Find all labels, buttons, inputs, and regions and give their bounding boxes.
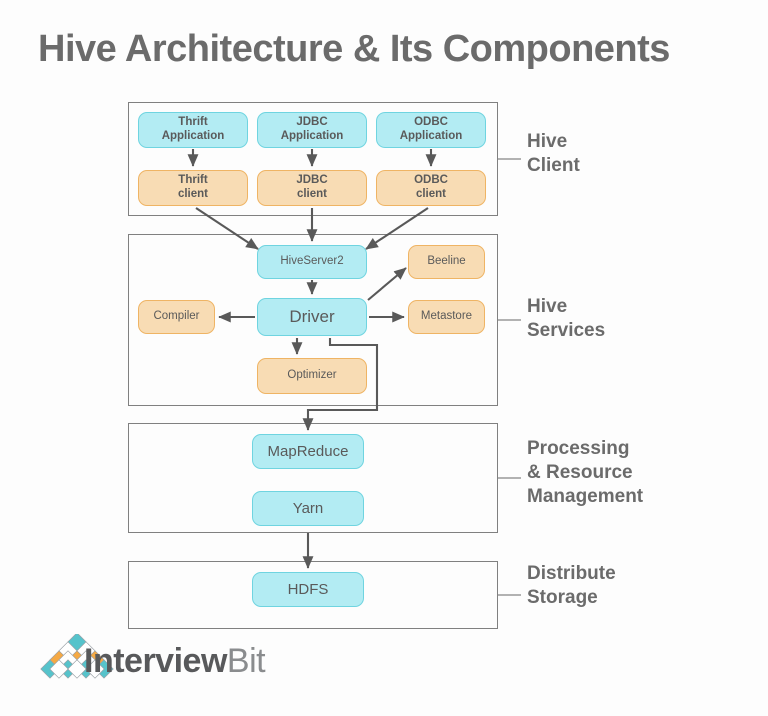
page-title: Hive Architecture & Its Components [38, 28, 670, 71]
section-label-processing: Processing & Resource Management [527, 437, 643, 508]
node-jdbc-client[interactable]: JDBC client [257, 170, 367, 206]
node-hiveserver2[interactable]: HiveServer2 [257, 245, 367, 279]
node-driver[interactable]: Driver [257, 298, 367, 336]
node-yarn[interactable]: Yarn [252, 491, 364, 526]
node-thrift-client[interactable]: Thrift client [138, 170, 248, 206]
node-thrift-application[interactable]: Thrift Application [138, 112, 248, 148]
node-odbc-client[interactable]: ODBC client [376, 170, 486, 206]
logo-wordmark: InterviewBit [84, 642, 265, 681]
diagram-canvas: Hive Architecture & Its Components [0, 0, 768, 716]
node-beeline[interactable]: Beeline [408, 245, 485, 279]
node-hdfs[interactable]: HDFS [252, 572, 364, 607]
logo-word-interview: Interview [84, 642, 227, 680]
node-metastore[interactable]: Metastore [408, 300, 485, 334]
section-label-hive-services: Hive Services [527, 295, 605, 343]
node-mapreduce[interactable]: MapReduce [252, 434, 364, 469]
node-optimizer[interactable]: Optimizer [257, 358, 367, 394]
section-label-distribute-storage: Distribute Storage [527, 562, 616, 610]
node-jdbc-application[interactable]: JDBC Application [257, 112, 367, 148]
logo-word-bit: Bit [227, 642, 265, 680]
section-label-hive-client: Hive Client [527, 130, 580, 178]
node-odbc-application[interactable]: ODBC Application [376, 112, 486, 148]
node-compiler[interactable]: Compiler [138, 300, 215, 334]
